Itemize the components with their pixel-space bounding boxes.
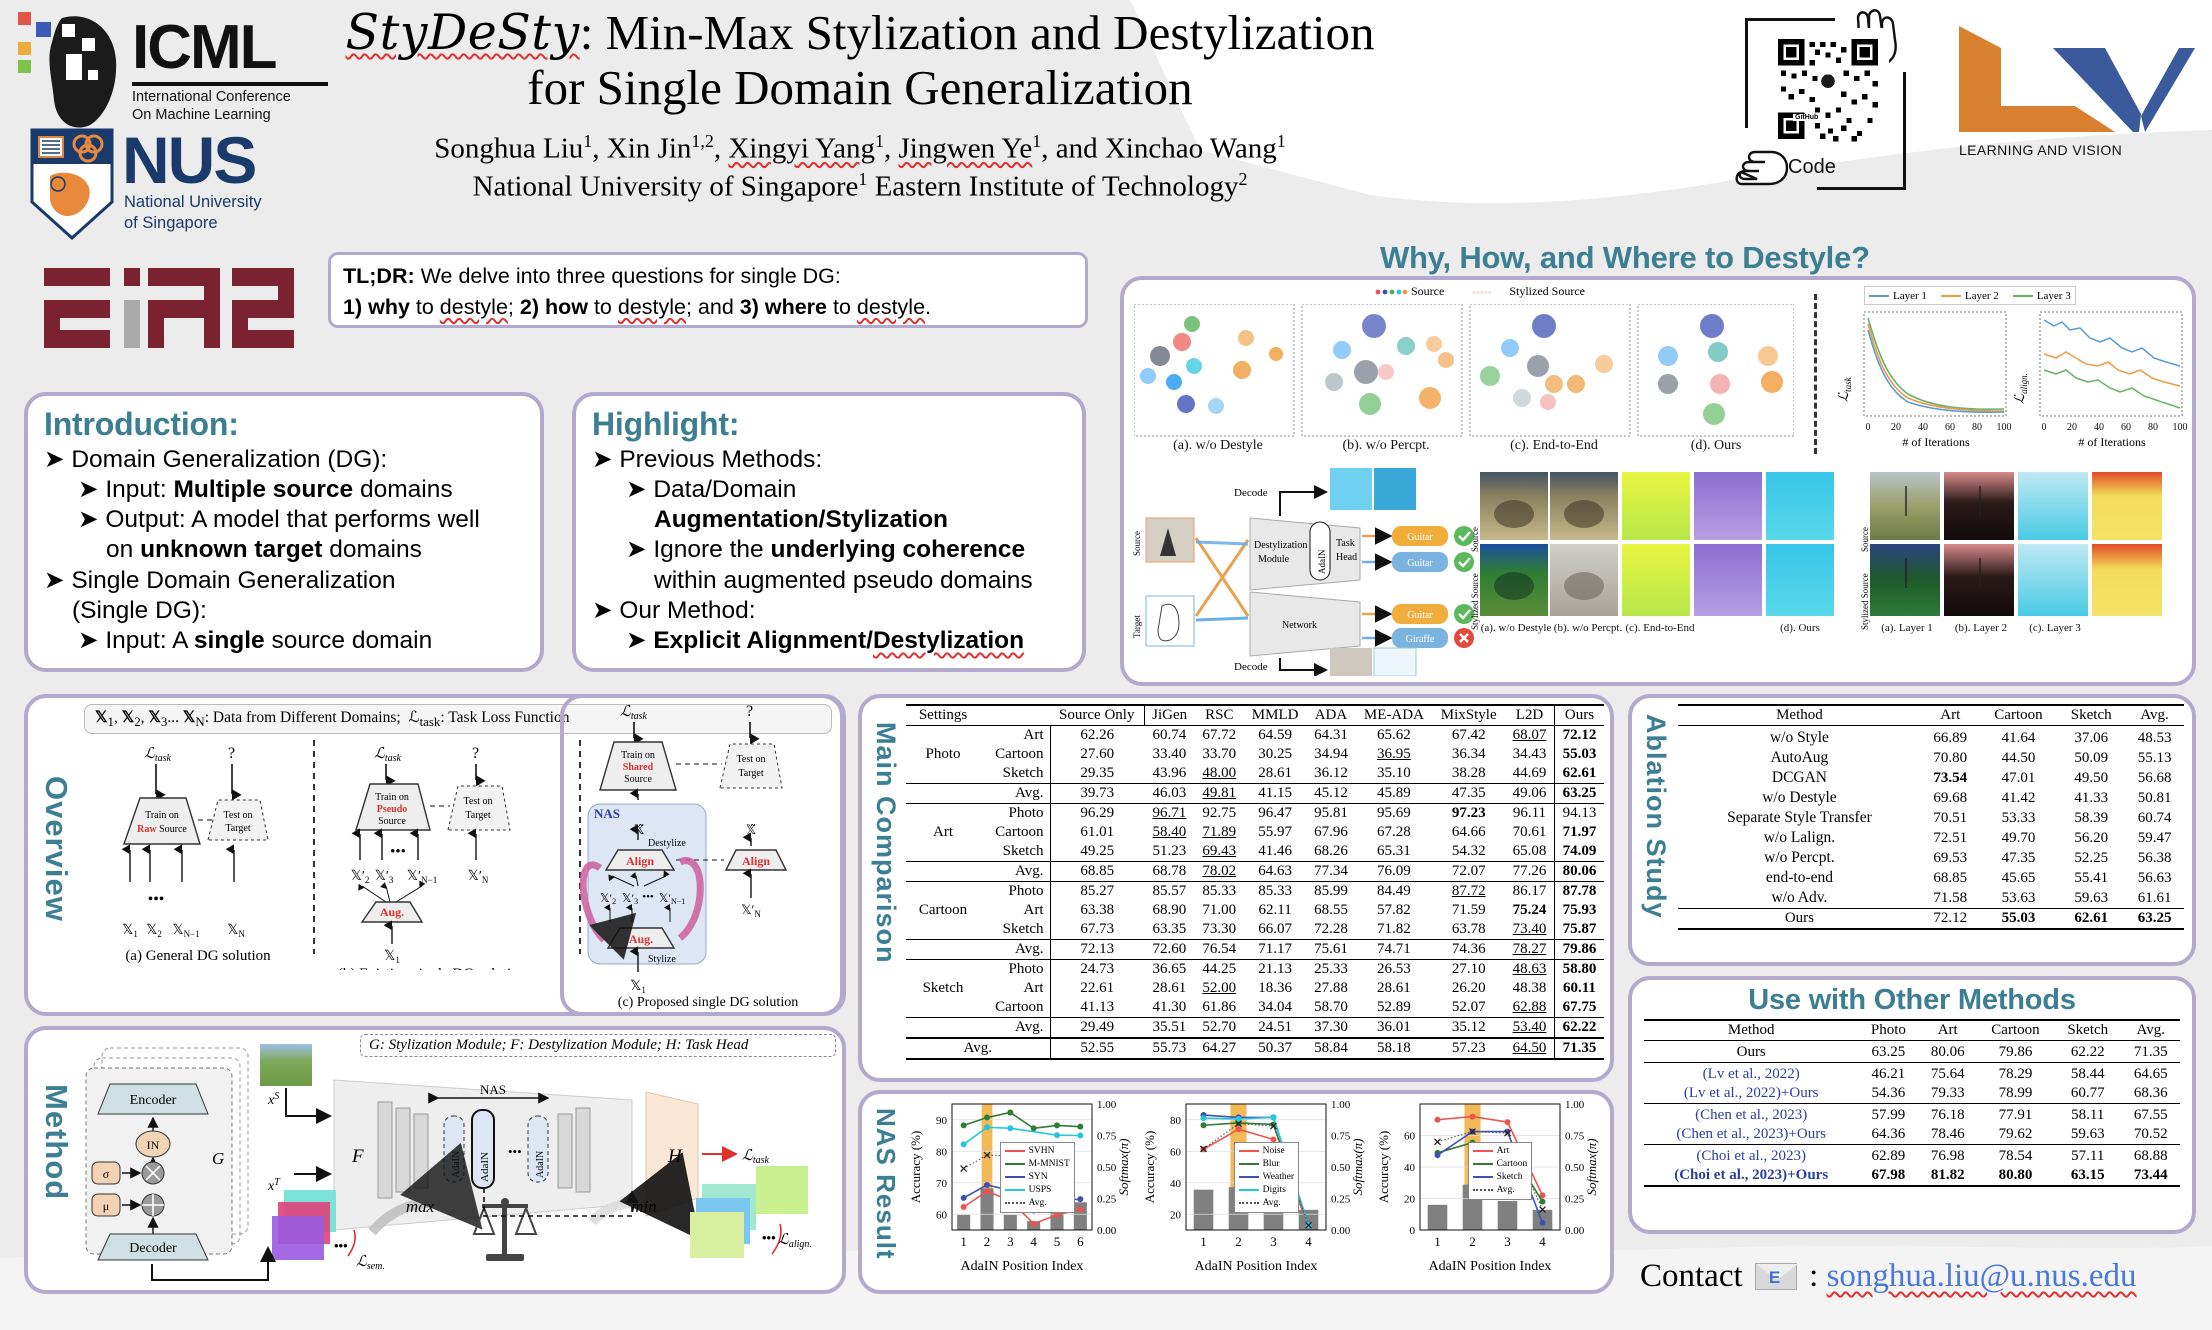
author-list: Songhua Liu1, Xin Jin1,2, Xingyi Yang1, … bbox=[330, 130, 1390, 168]
x-tick-label: 3 bbox=[1504, 1234, 1511, 1249]
svg-text:Task: Task bbox=[1336, 538, 1355, 549]
y2-tick-label: 1.00 bbox=[1097, 1099, 1117, 1111]
data-cell: 62.26 bbox=[1050, 726, 1144, 746]
data-cell: 41.46 bbox=[1244, 842, 1307, 862]
data-cell: 96.71 bbox=[1144, 804, 1195, 824]
giraffe-layer-grid bbox=[1870, 472, 2170, 620]
table-row: Avg.29.4935.5152.7024.5137.3036.0135.125… bbox=[906, 1018, 1604, 1039]
svg-text:σ: σ bbox=[103, 1167, 110, 1181]
data-cell: 80.06 bbox=[1554, 862, 1604, 882]
col-header: Method bbox=[1678, 705, 1921, 726]
data-cell: 81.82 bbox=[1918, 1166, 1976, 1186]
x-tick-label: 1 bbox=[1434, 1234, 1441, 1249]
data-cell: 68.85 bbox=[1050, 862, 1144, 882]
spacer bbox=[906, 862, 980, 882]
data-cell: 70.51 bbox=[1921, 808, 1980, 828]
list-item-cont: Augmentation/Stylization bbox=[592, 505, 1066, 535]
data-cell: 62.88 bbox=[1505, 998, 1554, 1018]
svg-text:(a) General DG solution: (a) General DG solution bbox=[125, 948, 271, 964]
legend-label: Avg. bbox=[1497, 1185, 1515, 1195]
nus-shield-icon bbox=[30, 128, 114, 240]
data-cell: 76.98 bbox=[1918, 1147, 1976, 1166]
contact-email-link[interactable]: songhua.liu@u.nus.edu bbox=[1827, 1258, 2137, 1294]
svg-text:(c) Proposed single DG solutio: (c) Proposed single DG solution bbox=[618, 995, 798, 1010]
row-label: Avg. bbox=[980, 1018, 1050, 1039]
x-tick-label: 2 bbox=[984, 1234, 991, 1249]
data-cell: 60.77 bbox=[2054, 1084, 2122, 1104]
data-cell: 64.36 bbox=[1858, 1125, 1918, 1145]
ablation-table: MethodArtCartoonSketchAvg.w/o Style66.89… bbox=[1678, 704, 2184, 932]
data-cell: 27.60 bbox=[1050, 745, 1144, 764]
data-cell: 77.26 bbox=[1505, 862, 1554, 882]
series-marker bbox=[1077, 1133, 1083, 1139]
data-cell: 74.71 bbox=[1355, 940, 1432, 960]
y2-tick-label: 0.50 bbox=[1097, 1162, 1117, 1174]
legend-layer-1: Layer 1 bbox=[1893, 290, 1927, 302]
table-row: Avg.68.8568.7878.0264.6377.3476.0972.077… bbox=[906, 862, 1604, 882]
data-cell: 63.78 bbox=[1432, 920, 1505, 940]
list-item: ➤ Single Domain Generalization bbox=[44, 566, 524, 596]
data-cell: 36.95 bbox=[1355, 745, 1432, 764]
loss-chart-group: Layer 1 Layer 2 Layer 3 ℒtask 02040 6080… bbox=[1838, 286, 2186, 466]
data-cell: 41.13 bbox=[1050, 998, 1144, 1018]
x-tick-label: 4 bbox=[1030, 1234, 1037, 1249]
data-cell: 57.99 bbox=[1858, 1106, 1918, 1125]
data-cell: 71.97 bbox=[1554, 823, 1604, 842]
table-row: SettingsSource OnlyJiGenRSCMMLDADAME-ADA… bbox=[906, 705, 1604, 726]
table-row: (Lv et al., 2022)+Ours54.3679.3378.9960.… bbox=[1644, 1084, 2180, 1104]
table-row: Cartoon41.1341.3061.8634.0458.7052.8952.… bbox=[906, 998, 1604, 1018]
use-with-other-table: MethodPhotoArtCartoonSketchAvg.Ours63.25… bbox=[1644, 1019, 2180, 1189]
data-cell: 63.15 bbox=[2054, 1166, 2122, 1186]
data-cell: 55.97 bbox=[1244, 823, 1307, 842]
data-cell: 52.00 bbox=[1195, 979, 1244, 998]
svg-text:Guitar: Guitar bbox=[1407, 610, 1433, 621]
data-cell: 72.07 bbox=[1432, 862, 1505, 882]
legend-swatch bbox=[1473, 1189, 1493, 1191]
tsne-caption-b: (b). w/o Percpt. bbox=[1302, 438, 1470, 454]
svg-text:𝕏1: 𝕏1 bbox=[630, 979, 646, 995]
legend-swatch bbox=[1473, 1163, 1493, 1165]
code-qr-block[interactable]: GitHub Code bbox=[1745, 10, 1945, 200]
legend-swatch bbox=[1005, 1150, 1025, 1152]
data-cell: 38.28 bbox=[1432, 764, 1505, 784]
data-cell: 45.65 bbox=[1980, 868, 2058, 888]
col-header: Ours bbox=[1554, 705, 1604, 726]
data-cell: 70.52 bbox=[2122, 1125, 2181, 1145]
y-axis-label: Accuracy (%) bbox=[908, 1131, 923, 1204]
row-label: Photo bbox=[980, 804, 1050, 824]
series-marker bbox=[984, 1182, 990, 1188]
row-label: Avg. bbox=[980, 940, 1050, 960]
row-label: end-to-end bbox=[1678, 868, 1921, 888]
data-cell: 68.55 bbox=[1306, 901, 1355, 920]
table-row: (Lv et al., 2022)46.2175.6478.2958.4464.… bbox=[1644, 1065, 2180, 1084]
svg-text:Test on: Test on bbox=[736, 754, 765, 765]
list-item: ➤ Input: Multiple source domains bbox=[44, 475, 524, 505]
data-cell: 45.89 bbox=[1355, 784, 1432, 804]
legend-item: USPS bbox=[1005, 1184, 1070, 1197]
data-cell: 67.75 bbox=[1554, 998, 1604, 1018]
grid-row-labels-right: Source Stylized Source bbox=[1860, 488, 1870, 630]
overview-title: Overview bbox=[38, 776, 74, 922]
data-cell: 68.78 bbox=[1144, 862, 1195, 882]
data-cell: 68.85 bbox=[1921, 868, 1980, 888]
data-cell: 51.23 bbox=[1144, 842, 1195, 862]
data-cell: 36.65 bbox=[1144, 960, 1195, 980]
svg-text:𝕏N: 𝕏N bbox=[227, 923, 245, 939]
icml-wordmark: ICML bbox=[132, 12, 276, 83]
nas-chart-3: 02040600.000.250.500.751.001234AdaIN Pos… bbox=[1376, 1096, 1604, 1276]
series-marker bbox=[1540, 1199, 1546, 1205]
row-label: w/o Lalign. bbox=[1678, 828, 1921, 848]
y2-axis-label: Softmax(π) bbox=[1116, 1138, 1131, 1195]
icml-logo: ICML International Conference On Machine… bbox=[14, 8, 334, 128]
list-item: ➤ Output: A model that performs well bbox=[44, 505, 524, 535]
data-cell: 58.80 bbox=[1554, 960, 1604, 980]
svg-text:Target: Target bbox=[225, 823, 250, 834]
svg-text:NAS: NAS bbox=[594, 806, 620, 821]
chart-legend: ArtCartoonSketchAvg. bbox=[1468, 1142, 1533, 1200]
table-row: MethodArtCartoonSketchAvg. bbox=[1678, 705, 2184, 726]
svg-text:AdaIN: AdaIN bbox=[479, 1152, 491, 1182]
table-row: (Chen et al., 2023)57.9976.1877.9158.116… bbox=[1644, 1106, 2180, 1125]
legend-label: Cartoon bbox=[1497, 1159, 1528, 1169]
x-tick-label: 1 bbox=[960, 1234, 967, 1249]
method-diagram: Encoder IN σ μ Decoder G xS xT bbox=[72, 1044, 832, 1290]
svg-text:G: G bbox=[212, 1149, 224, 1168]
svg-text:Shared: Shared bbox=[623, 762, 654, 773]
data-cell: 30.25 bbox=[1244, 745, 1307, 764]
row-label: (Chen et al., 2023)+Ours bbox=[1644, 1125, 1858, 1145]
data-cell: 43.96 bbox=[1144, 764, 1195, 784]
loss-chart-legend: Layer 1 Layer 2 Layer 3 bbox=[1864, 286, 2076, 305]
svg-text:H: H bbox=[667, 1146, 683, 1167]
data-cell: 87.78 bbox=[1554, 882, 1604, 902]
row-label: Avg. bbox=[906, 1038, 1050, 1059]
series-marker bbox=[1007, 1125, 1013, 1131]
introduction-title: Introduction: bbox=[44, 406, 524, 443]
ablation-card: Ablation Study MethodArtCartoonSketchAvg… bbox=[1628, 694, 2196, 966]
row-label: Art bbox=[980, 726, 1050, 746]
data-cell: 53.33 bbox=[1980, 808, 2058, 828]
legend-layer-2: Layer 2 bbox=[1965, 290, 1999, 302]
col-header: ME-ADA bbox=[1355, 705, 1432, 726]
tsne-scatter-plots bbox=[1134, 304, 1794, 444]
page-title-keyword: StyDeSty bbox=[346, 4, 580, 61]
data-cell: 60.11 bbox=[1554, 979, 1604, 998]
highlight-title: Highlight: bbox=[592, 406, 1066, 443]
data-cell: 69.53 bbox=[1921, 848, 1980, 868]
row-label: Cartoon bbox=[980, 745, 1050, 764]
legend-swatch bbox=[1005, 1189, 1025, 1191]
legend-label: Avg. bbox=[1029, 1198, 1047, 1208]
col-header: MixStyle bbox=[1432, 705, 1505, 726]
data-cell: 58.84 bbox=[1306, 1038, 1355, 1059]
data-cell: 59.63 bbox=[2057, 888, 2125, 909]
col-header: Art bbox=[1921, 705, 1980, 726]
svg-text:Source: Source bbox=[624, 774, 652, 785]
y2-tick-label: 0.75 bbox=[1097, 1131, 1117, 1143]
group-label: Photo bbox=[906, 726, 980, 784]
series-marker bbox=[961, 1122, 967, 1128]
grid-row-labels-left: Source Stylized Source bbox=[1470, 488, 1480, 630]
svg-text:ℒtask: ℒtask bbox=[1838, 376, 1853, 402]
introduction-list: ➤ Domain Generalization (DG): ➤ Input: M… bbox=[44, 445, 524, 656]
data-cell: 47.35 bbox=[1432, 784, 1505, 804]
svg-text:?: ? bbox=[472, 745, 479, 762]
y-tick-label: 60 bbox=[1170, 1146, 1182, 1158]
data-cell: 70.61 bbox=[1505, 823, 1554, 842]
softmax-bar bbox=[1498, 1201, 1518, 1230]
data-cell: 64.66 bbox=[1432, 823, 1505, 842]
svg-text:100: 100 bbox=[1997, 422, 2012, 433]
row-label: Photo bbox=[980, 882, 1050, 902]
data-cell: 56.63 bbox=[2125, 868, 2184, 888]
email-icon: E bbox=[1755, 1263, 1797, 1290]
svg-text:min: min bbox=[631, 1197, 657, 1216]
table-row: end-to-end68.8545.6555.4156.63 bbox=[1678, 868, 2184, 888]
data-cell: 50.81 bbox=[2125, 788, 2184, 808]
data-cell: 65.31 bbox=[1355, 842, 1432, 862]
data-cell: 61.01 bbox=[1050, 823, 1144, 842]
eias-mark-icon bbox=[40, 262, 300, 362]
svg-text:𝕏′N: 𝕏′N bbox=[741, 902, 761, 919]
data-cell: 50.37 bbox=[1244, 1038, 1307, 1059]
data-cell: 56.38 bbox=[2125, 848, 2184, 868]
softmax-bar bbox=[1004, 1215, 1017, 1230]
data-cell: 25.33 bbox=[1306, 960, 1355, 980]
chart-legend: SVHNM-MNISTSYNUSPSAvg. bbox=[1000, 1142, 1075, 1213]
loss-align-chart: ℒalign. 02040 6080100 # of Iterations bbox=[2014, 308, 2190, 448]
svg-text:𝕏N−1: 𝕏N−1 bbox=[172, 923, 199, 939]
data-cell: 26.20 bbox=[1432, 979, 1505, 998]
list-item: ➤ Ignore the underlying coherence bbox=[592, 535, 1066, 565]
svg-text:20: 20 bbox=[1891, 422, 1901, 433]
qr-code-image bbox=[1773, 34, 1883, 144]
table-row: Sketch67.7363.3573.3066.0772.2871.8263.7… bbox=[906, 920, 1604, 940]
svg-text:𝕏′N−1: 𝕏′N−1 bbox=[407, 869, 437, 885]
legend-item: Noise bbox=[1239, 1145, 1294, 1158]
data-cell: 79.33 bbox=[1918, 1084, 1976, 1104]
table-row: ArtPhoto96.2996.7192.7596.4795.8195.6997… bbox=[906, 804, 1604, 824]
table-row: MethodPhotoArtCartoonSketchAvg. bbox=[1644, 1020, 2180, 1041]
elephant-image-grid bbox=[1480, 472, 1836, 620]
y-tick-label: 80 bbox=[936, 1146, 948, 1158]
data-cell: 85.99 bbox=[1306, 882, 1355, 902]
svg-text:(b) Existing single DG solutio: (b) Existing single DG solution bbox=[338, 966, 527, 970]
data-cell: 54.36 bbox=[1858, 1084, 1918, 1104]
svg-text:# of Iterations: # of Iterations bbox=[1902, 435, 1970, 448]
svg-text:𝕏̃: 𝕏̃ bbox=[746, 822, 756, 837]
data-cell: 67.73 bbox=[1050, 920, 1144, 940]
qr-code[interactable]: GitHub bbox=[1767, 28, 1889, 150]
table-row: Sketch49.2551.2369.4341.4668.2665.3154.3… bbox=[906, 842, 1604, 862]
legend-label: Noise bbox=[1263, 1146, 1285, 1156]
data-cell: 66.07 bbox=[1244, 920, 1307, 940]
data-cell: 67.55 bbox=[2122, 1106, 2181, 1125]
x-tick-label: 4 bbox=[1539, 1234, 1546, 1249]
svg-text:Destylization: Destylization bbox=[1254, 540, 1307, 551]
col-header: ADA bbox=[1306, 705, 1355, 726]
svg-text:Align: Align bbox=[626, 854, 654, 868]
data-cell: 55.73 bbox=[1144, 1038, 1195, 1059]
data-cell: 71.89 bbox=[1195, 823, 1244, 842]
series-marker bbox=[984, 1188, 990, 1194]
data-cell: 52.70 bbox=[1195, 1018, 1244, 1039]
data-cell: 69.68 bbox=[1921, 788, 1980, 808]
qr-brand-label: GitHub bbox=[1793, 114, 1820, 121]
data-cell: 41.33 bbox=[2057, 788, 2125, 808]
x-tick-label: 2 bbox=[1235, 1234, 1242, 1249]
data-cell: 33.70 bbox=[1195, 745, 1244, 764]
row-label: (Choi et al., 2023) bbox=[1644, 1147, 1858, 1166]
data-cell: 70.80 bbox=[1921, 748, 1980, 768]
tldr-line2: 1) why to destyle; 2) how to destyle; an… bbox=[343, 292, 1073, 323]
list-item-cont: (Single DG): bbox=[44, 596, 524, 626]
data-cell: 63.25 bbox=[1554, 784, 1604, 804]
y2-tick-label: 1.00 bbox=[1331, 1099, 1351, 1111]
data-cell: 75.61 bbox=[1306, 940, 1355, 960]
series-marker bbox=[1054, 1122, 1060, 1128]
table-row: w/o Adv.71.5853.6359.6361.61 bbox=[1678, 888, 2184, 909]
legend-layer-3: Layer 3 bbox=[2037, 290, 2071, 302]
softmax-bar bbox=[957, 1215, 970, 1230]
svg-text:𝕏1: 𝕏1 bbox=[384, 949, 400, 965]
svg-text:100: 100 bbox=[2173, 422, 2188, 433]
x-tick-label: 2 bbox=[1469, 1234, 1476, 1249]
svg-text:Decode: Decode bbox=[1234, 487, 1268, 499]
data-cell: 41.30 bbox=[1144, 998, 1195, 1018]
row-label: w/o Percpt. bbox=[1678, 848, 1921, 868]
list-item: ➤ Our Method: bbox=[592, 596, 1066, 626]
y-tick-label: 0 bbox=[1410, 1225, 1416, 1237]
data-cell: 96.47 bbox=[1244, 804, 1307, 824]
data-cell: 41.64 bbox=[1980, 728, 2058, 748]
data-cell: 71.00 bbox=[1195, 901, 1244, 920]
legend-item: Avg. bbox=[1473, 1184, 1528, 1197]
data-cell: 55.03 bbox=[1554, 745, 1604, 764]
row-label: DCGAN bbox=[1678, 768, 1921, 788]
legend-item: Cartoon bbox=[1473, 1158, 1528, 1171]
data-cell: 57.11 bbox=[2054, 1147, 2122, 1166]
code-label: Code bbox=[1788, 156, 1836, 179]
y2-tick-label: 0.00 bbox=[1331, 1225, 1351, 1237]
series-marker bbox=[1236, 1126, 1242, 1132]
legend-swatch bbox=[1239, 1202, 1259, 1204]
data-cell: 21.13 bbox=[1244, 960, 1307, 980]
svg-text:0: 0 bbox=[1866, 422, 1871, 433]
data-cell: 34.94 bbox=[1306, 745, 1355, 764]
data-cell: 73.40 bbox=[1505, 920, 1554, 940]
legend-item: Art bbox=[1473, 1145, 1528, 1158]
table-row: w/o Destyle69.6841.4241.3350.81 bbox=[1678, 788, 2184, 808]
table-row: Sketch29.3543.9648.0028.6136.1235.1038.2… bbox=[906, 764, 1604, 784]
data-cell: 34.43 bbox=[1505, 745, 1554, 764]
col-header: Settings bbox=[906, 705, 980, 726]
data-cell: 57.23 bbox=[1432, 1038, 1505, 1059]
row-label: Avg. bbox=[980, 784, 1050, 804]
data-cell: 49.25 bbox=[1050, 842, 1144, 862]
legend-swatch bbox=[1473, 1150, 1493, 1152]
data-cell: 58.18 bbox=[1355, 1038, 1432, 1059]
data-cell: 85.33 bbox=[1195, 882, 1244, 902]
data-cell: 84.49 bbox=[1355, 882, 1432, 902]
data-cell: 64.59 bbox=[1244, 726, 1307, 746]
data-cell: 65.62 bbox=[1355, 726, 1432, 746]
svg-text:AdaIN: AdaIN bbox=[535, 1151, 546, 1178]
data-cell: 62.11 bbox=[1244, 901, 1307, 920]
lv-mark-icon bbox=[1955, 20, 2195, 140]
page-title: StyDeSty: Min-Max Stylization and Destyl… bbox=[330, 6, 1390, 61]
data-cell: 47.01 bbox=[1980, 768, 2058, 788]
nas-chart-group: 607080900.000.250.500.751.00123456AdaIN … bbox=[908, 1096, 1612, 1292]
method-card: Method G: Stylization Module; F: Destyli… bbox=[24, 1026, 846, 1294]
legend-label: Weather bbox=[1263, 1172, 1294, 1182]
data-cell: 36.01 bbox=[1355, 1018, 1432, 1039]
svg-text:60: 60 bbox=[2121, 422, 2131, 433]
data-cell: 97.23 bbox=[1432, 804, 1505, 824]
data-cell: 60.74 bbox=[2125, 808, 2184, 828]
data-cell: 55.03 bbox=[1980, 909, 2058, 930]
row-label: Sketch bbox=[980, 842, 1050, 862]
qualitative-image-grid-right: Source Stylized Source bbox=[1870, 472, 2170, 625]
data-cell: 58.39 bbox=[2057, 808, 2125, 828]
row-label: (Choi et al., 2023)+Ours bbox=[1644, 1166, 1858, 1186]
svg-text:Train on: Train on bbox=[375, 792, 409, 803]
data-cell: 66.89 bbox=[1921, 728, 1980, 748]
data-cell: 72.51 bbox=[1921, 828, 1980, 848]
svg-text:×××××: ××××× bbox=[1472, 289, 1492, 296]
y2-tick-label: 0.00 bbox=[1097, 1225, 1117, 1237]
table-bottom-rule bbox=[1678, 929, 2184, 932]
data-cell: 78.27 bbox=[1505, 940, 1554, 960]
legend-item: Avg. bbox=[1005, 1197, 1070, 1210]
x-tick-label: 5 bbox=[1054, 1234, 1061, 1249]
svg-text:Guitar: Guitar bbox=[1407, 532, 1433, 543]
nas-result-card: NAS Result 607080900.000.250.500.751.001… bbox=[858, 1090, 1614, 1294]
svg-text:Encoder: Encoder bbox=[130, 1093, 177, 1108]
data-cell: 49.50 bbox=[2057, 768, 2125, 788]
table-row: PhotoArt62.2660.7467.7264.5964.3165.6267… bbox=[906, 726, 1604, 746]
list-item: ➤ Domain Generalization (DG): bbox=[44, 445, 524, 475]
legend-label: Avg. bbox=[1263, 1198, 1281, 1208]
data-cell: 35.10 bbox=[1355, 764, 1432, 784]
svg-text:Decoder: Decoder bbox=[129, 1241, 177, 1256]
spacer bbox=[906, 1018, 980, 1039]
y2-axis-label: Softmax(π) bbox=[1584, 1138, 1599, 1195]
col-header: MMLD bbox=[1244, 705, 1307, 726]
data-cell: 76.09 bbox=[1355, 862, 1432, 882]
series-marker bbox=[1271, 1114, 1277, 1120]
data-cell: 47.35 bbox=[1980, 848, 2058, 868]
data-cell: 49.70 bbox=[1980, 828, 2058, 848]
y2-axis-label: Softmax(π) bbox=[1350, 1138, 1365, 1195]
svg-text:Target: Target bbox=[738, 768, 763, 779]
data-cell: 78.29 bbox=[1977, 1065, 2054, 1084]
series-marker bbox=[1077, 1124, 1083, 1130]
icml-subtitle: International Conference On Machine Lear… bbox=[132, 88, 291, 124]
data-cell: 62.89 bbox=[1858, 1147, 1918, 1166]
data-cell: 64.65 bbox=[2122, 1065, 2181, 1084]
svg-text:•••: ••• bbox=[390, 844, 406, 860]
poster-header: ICML International Conference On Machine… bbox=[0, 0, 2212, 250]
svg-text:•••: ••• bbox=[334, 1238, 348, 1253]
svg-text:𝕏′3: 𝕏′3 bbox=[375, 869, 394, 885]
data-cell: 46.21 bbox=[1858, 1065, 1918, 1084]
data-cell: 62.61 bbox=[2057, 909, 2125, 930]
tldr-line1: TL;DR: We delve into three questions for… bbox=[343, 261, 1073, 292]
